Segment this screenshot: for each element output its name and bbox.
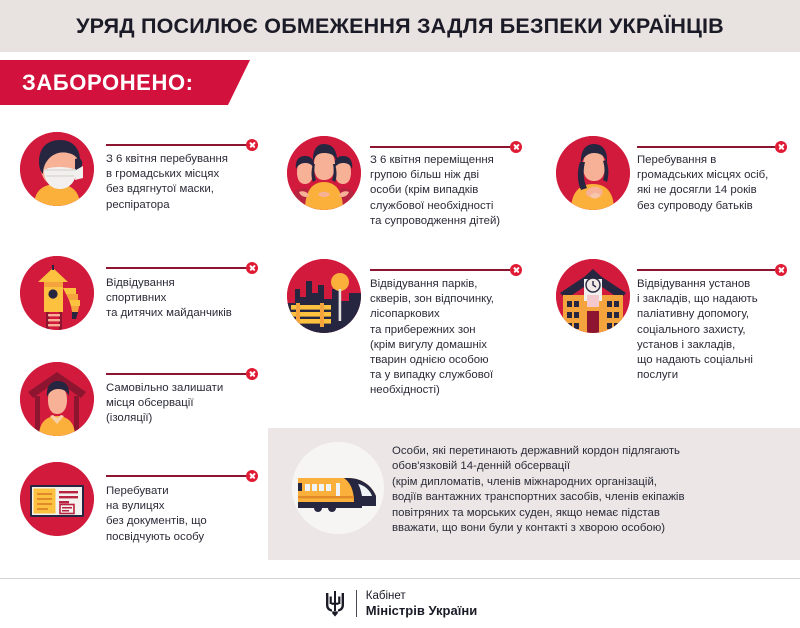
close-icon [775,141,787,153]
institution-building-icon [556,259,630,333]
banner-label: ЗАБОРОНЕНО: [22,60,194,105]
page-title: УРЯД ПОСИЛЮЄ ОБМЕЖЕННЯ ЗАДЛЯ БЕЗПЕКИ УКР… [0,0,800,52]
footer-line-1: Кабінет [366,590,477,604]
divider-with-x [106,470,258,482]
list-item-label: Відвідування установ і закладів, що нада… [637,277,800,383]
prohibited-banner: ЗАБОРОНЕНО: [0,60,250,105]
train-icon [292,442,384,534]
footer: Кабінет Міністрів України [0,579,800,628]
person-at-home-icon [20,362,94,436]
list-item-label: Перебування в громадських місцях осіб, я… [637,153,800,214]
divider-with-x [370,141,522,153]
playground-icon [20,256,94,330]
list-item-label: Відвідування парків, скверів, зон відпоч… [370,277,542,399]
family-group-icon [287,136,361,210]
young-girl-icon [556,136,630,210]
list-item-label: З 6 квітня переміщення групою більш ніж … [370,153,542,229]
footer-separator [356,590,357,617]
close-icon [775,264,787,276]
close-icon [246,470,258,482]
list-item-label: Самовільно залишати місця обсервації (із… [106,381,268,427]
divider-with-x [637,141,787,153]
close-icon [246,139,258,151]
divider-with-x [106,262,258,274]
close-icon [246,262,258,274]
close-icon [510,264,522,276]
list-item-label: Перебувати на вулицях без документів, що… [106,484,268,545]
footer-line-2: Міністрів України [366,604,477,618]
list-item-label: З 6 квітня перебування в громадських міс… [106,152,268,213]
park-bench-icon [287,259,361,333]
passport-document-icon [20,462,94,536]
border-crossing-text: Особи, які перетинають державний кордон … [392,444,792,536]
close-icon [510,141,522,153]
ukrainian-trident-icon [323,589,347,619]
footer-cabinet-label: Кабінет Міністрів України [366,590,477,617]
masked-person-icon [20,132,94,206]
divider-with-x [106,139,258,151]
divider-with-x [637,264,787,276]
divider-with-x [370,264,522,276]
list-item-label: Відвідування спортивних та дитячих майда… [106,276,271,322]
close-icon [246,368,258,380]
divider-with-x [106,368,258,380]
